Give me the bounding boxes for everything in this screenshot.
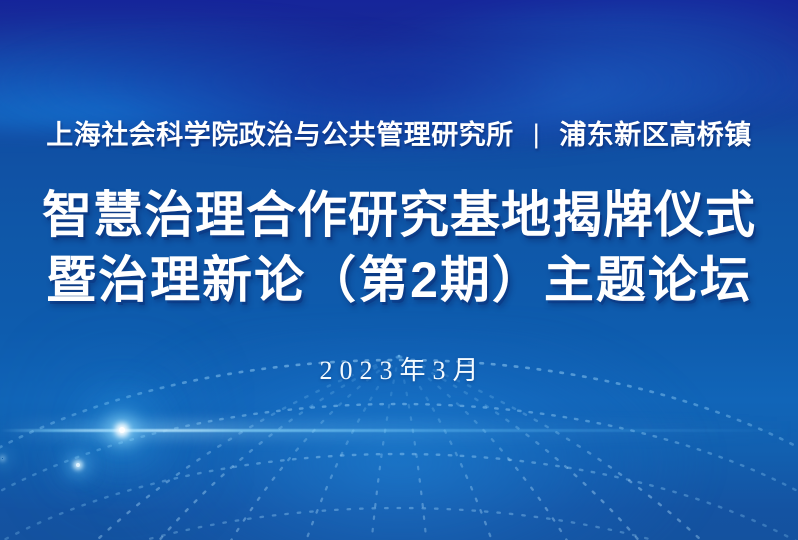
event-title-line-2: 暨治理新论（第2期）主题论坛 [0,255,798,305]
organization-separator: | [522,121,552,148]
event-poster: 上海社会科学院政治与公共管理研究所 | 浦东新区高桥镇 智慧治理合作研究基地揭牌… [0,0,798,540]
event-date: 2023年3月 [0,350,798,387]
text-content: 上海社会科学院政治与公共管理研究所 | 浦东新区高桥镇 智慧治理合作研究基地揭牌… [0,0,798,540]
organization-left: 上海社会科学院政治与公共管理研究所 [46,120,514,150]
event-title-line-1: 智慧治理合作研究基地揭牌仪式 [0,190,798,240]
organizations-line: 上海社会科学院政治与公共管理研究所 | 浦东新区高桥镇 [0,122,798,149]
organization-right: 浦东新区高桥镇 [559,120,752,150]
